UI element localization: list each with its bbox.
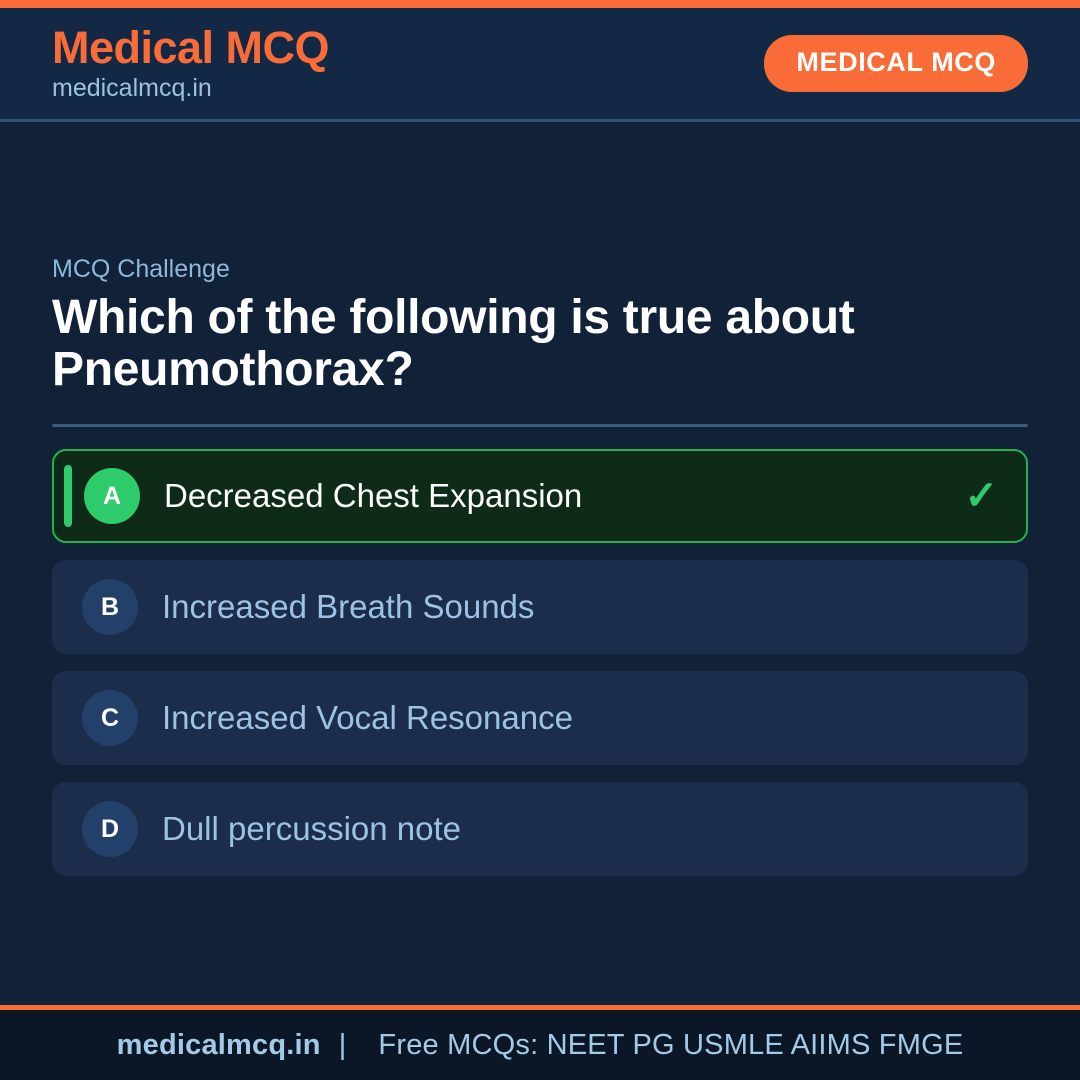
option-letter-badge-b: B [82, 579, 138, 635]
brand-block: Medical MCQ medicalmcq.in [52, 24, 329, 104]
check-icon: ✓ [964, 476, 998, 516]
page-footer: medicalmcq.in | Free MCQs: NEET PG USMLE… [0, 1005, 1080, 1080]
option-label-a: Decreased Chest Expansion [164, 478, 582, 514]
question-divider [52, 424, 1028, 427]
option-letter-badge-d: D [82, 801, 138, 857]
option-row-b[interactable]: B Increased Breath Sounds [52, 560, 1028, 654]
options-list: A Decreased Chest Expansion ✓ B Increase… [52, 449, 1028, 876]
option-label-c: Increased Vocal Resonance [162, 700, 573, 736]
page-header: Medical MCQ medicalmcq.in MEDICAL MCQ [0, 8, 1080, 122]
option-letter-badge-a: A [84, 468, 140, 524]
eyebrow-label: MCQ Challenge [52, 254, 1028, 284]
option-label-b: Increased Breath Sounds [162, 589, 534, 625]
option-letter-badge-c: C [82, 690, 138, 746]
top-accent-bar [0, 0, 1080, 8]
question-text: Which of the following is true about Pne… [52, 292, 952, 397]
brand-title: Medical MCQ [52, 24, 329, 72]
header-badge: MEDICAL MCQ [764, 35, 1028, 92]
option-row-d[interactable]: D Dull percussion note [52, 782, 1028, 876]
footer-tagline: Free MCQs: NEET PG USMLE AIIMS FMGE [364, 1029, 963, 1062]
option-label-d: Dull percussion note [162, 811, 461, 847]
main-content: MCQ Challenge Which of the following is … [0, 125, 1080, 1005]
footer-separator: | [321, 1029, 365, 1062]
footer-site-label: medicalmcq.in [117, 1029, 321, 1062]
brand-subtitle: medicalmcq.in [52, 73, 329, 103]
correct-accent-bar [64, 465, 72, 527]
option-row-a[interactable]: A Decreased Chest Expansion ✓ [52, 449, 1028, 543]
option-row-c[interactable]: C Increased Vocal Resonance [52, 671, 1028, 765]
